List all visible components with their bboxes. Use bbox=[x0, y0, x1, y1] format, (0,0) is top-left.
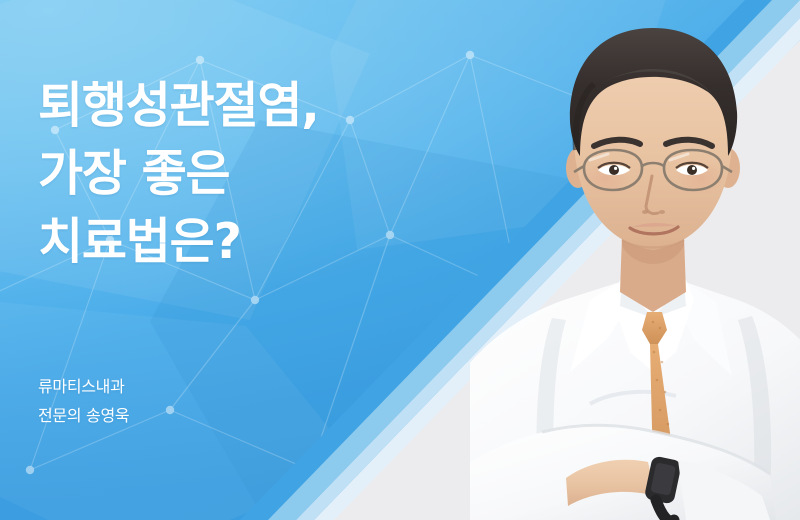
head bbox=[566, 28, 740, 250]
headline-line-3: 치료법은? bbox=[38, 208, 468, 276]
page-title: 퇴행성관절염, 가장 좋은 치료법은? bbox=[38, 72, 468, 276]
headline-line-2: 가장 좋은 bbox=[38, 140, 468, 208]
promo-banner: 퇴행성관절염, 가장 좋은 치료법은? 류마티스내과 전문의 송영욱 bbox=[0, 0, 800, 520]
headline-block: 퇴행성관절염, 가장 좋은 치료법은? bbox=[38, 72, 468, 276]
speaker-credit: 류마티스내과 전문의 송영욱 bbox=[38, 372, 129, 430]
headline-line-1: 퇴행성관절염, bbox=[38, 72, 468, 140]
speaker-department: 류마티스내과 bbox=[38, 372, 129, 401]
doctor-portrait bbox=[470, 0, 800, 520]
speaker-name: 전문의 송영욱 bbox=[38, 401, 129, 430]
